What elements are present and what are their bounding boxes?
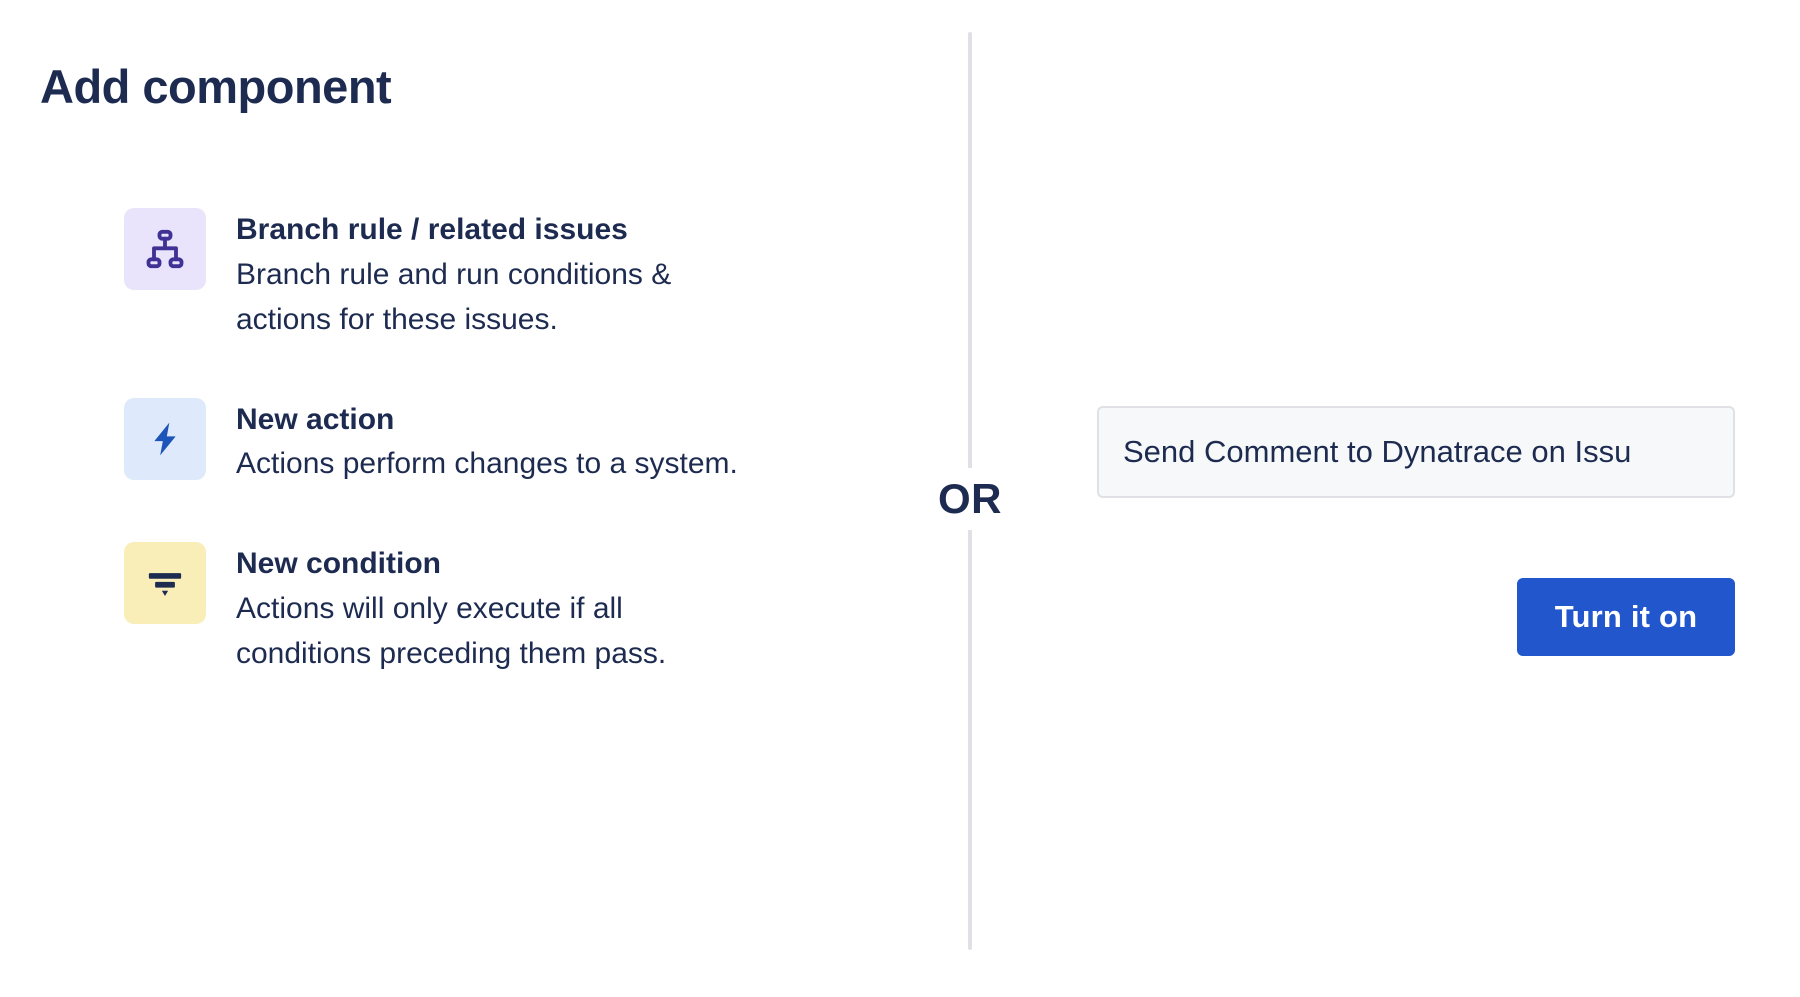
component-option-new-condition[interactable]: New condition Actions will only execute … xyxy=(124,542,804,676)
component-text: New condition Actions will only execute … xyxy=(236,542,746,676)
add-component-screen: Add component Branch rule / related issu… xyxy=(0,0,1800,997)
component-text: Branch rule / related issues Branch rule… xyxy=(236,208,746,342)
filter-funnel-icon xyxy=(124,542,206,624)
rule-name-field[interactable]: Send Comment to Dynatrace on Issu xyxy=(1097,406,1735,498)
component-option-title: New condition xyxy=(236,546,746,583)
or-separator-label: OR xyxy=(920,468,1020,530)
component-option-branch-rule[interactable]: Branch rule / related issues Branch rule… xyxy=(124,208,804,342)
component-option-title: New action xyxy=(236,402,738,439)
lightning-bolt-icon xyxy=(124,398,206,480)
component-option-title: Branch rule / related issues xyxy=(236,212,746,249)
component-option-description: Branch rule and run conditions & actions… xyxy=(236,252,746,342)
component-list: Branch rule / related issues Branch rule… xyxy=(124,208,804,676)
rule-name-value: Send Comment to Dynatrace on Issu xyxy=(1123,435,1631,469)
component-option-description: Actions perform changes to a system. xyxy=(236,441,738,486)
component-option-new-action[interactable]: New action Actions perform changes to a … xyxy=(124,398,804,487)
component-text: New action Actions perform changes to a … xyxy=(236,398,738,487)
turn-it-on-button[interactable]: Turn it on xyxy=(1517,578,1735,656)
component-option-description: Actions will only execute if all conditi… xyxy=(236,586,746,676)
page-title: Add component xyxy=(40,59,391,114)
hierarchy-branch-icon xyxy=(124,208,206,290)
